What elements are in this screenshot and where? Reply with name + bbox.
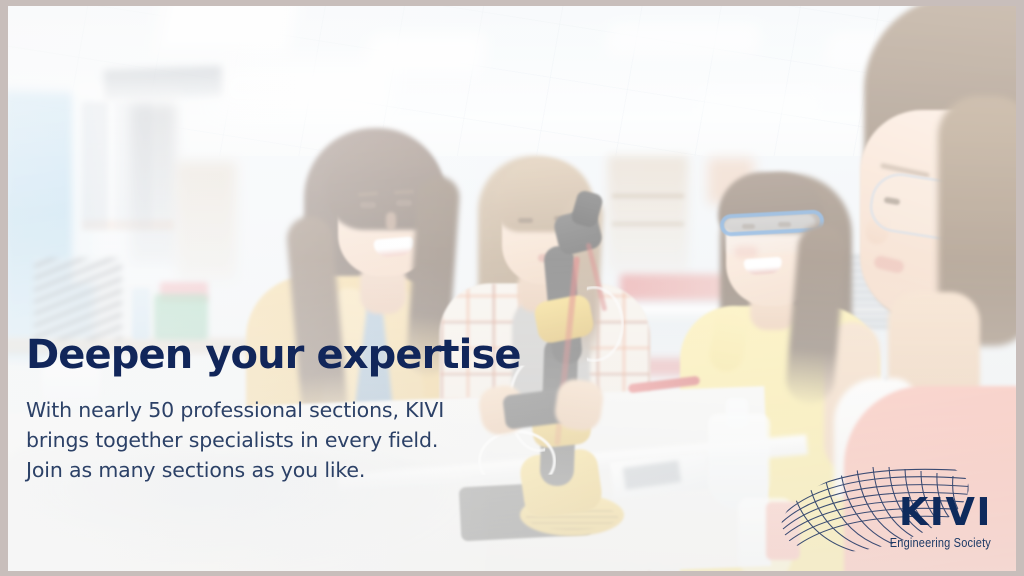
wall-panel-wood xyxy=(176,162,236,280)
teacher-nose xyxy=(386,212,396,230)
student-yellow-cheek xyxy=(734,246,758,258)
shelf-edge xyxy=(612,222,684,226)
teacher-eye xyxy=(360,202,376,208)
body-line-2: brings together specialists in every fie… xyxy=(26,426,666,456)
glass-flask xyxy=(708,414,770,510)
wall-cabinet xyxy=(104,66,223,100)
lab-equipment-dark xyxy=(34,258,122,340)
hero-photo: Deepen your expertise With nearly 50 pro… xyxy=(8,6,1016,571)
doorway xyxy=(130,104,176,264)
student-plaid-eye xyxy=(518,218,533,223)
teacher-eye xyxy=(396,200,412,206)
background-shelf xyxy=(608,156,688,272)
body-line-3: Join as many sections as you like. xyxy=(26,456,666,486)
kivi-tagline: Engineering Society xyxy=(890,537,991,550)
slide-frame: Deepen your expertise With nearly 50 pro… xyxy=(0,0,1024,576)
ceiling-light-panel xyxy=(152,6,299,54)
shelf-edge xyxy=(612,194,684,198)
ceiling-light-panel xyxy=(697,90,819,116)
page-title: Deepen your expertise xyxy=(26,334,666,376)
ceiling-light-panel xyxy=(211,62,395,114)
ceiling-light-panel xyxy=(606,24,760,54)
glass-flask-neck xyxy=(726,398,748,428)
body-copy: With nearly 50 professional sections, KI… xyxy=(26,396,666,486)
kivi-wordmark: KIVI xyxy=(899,493,992,531)
body-line-1: With nearly 50 professional sections, KI… xyxy=(26,396,666,426)
kivi-logo[interactable]: KIVI Engineering Society xyxy=(779,461,994,557)
copy-block: Deepen your expertise With nearly 50 pro… xyxy=(26,334,666,486)
